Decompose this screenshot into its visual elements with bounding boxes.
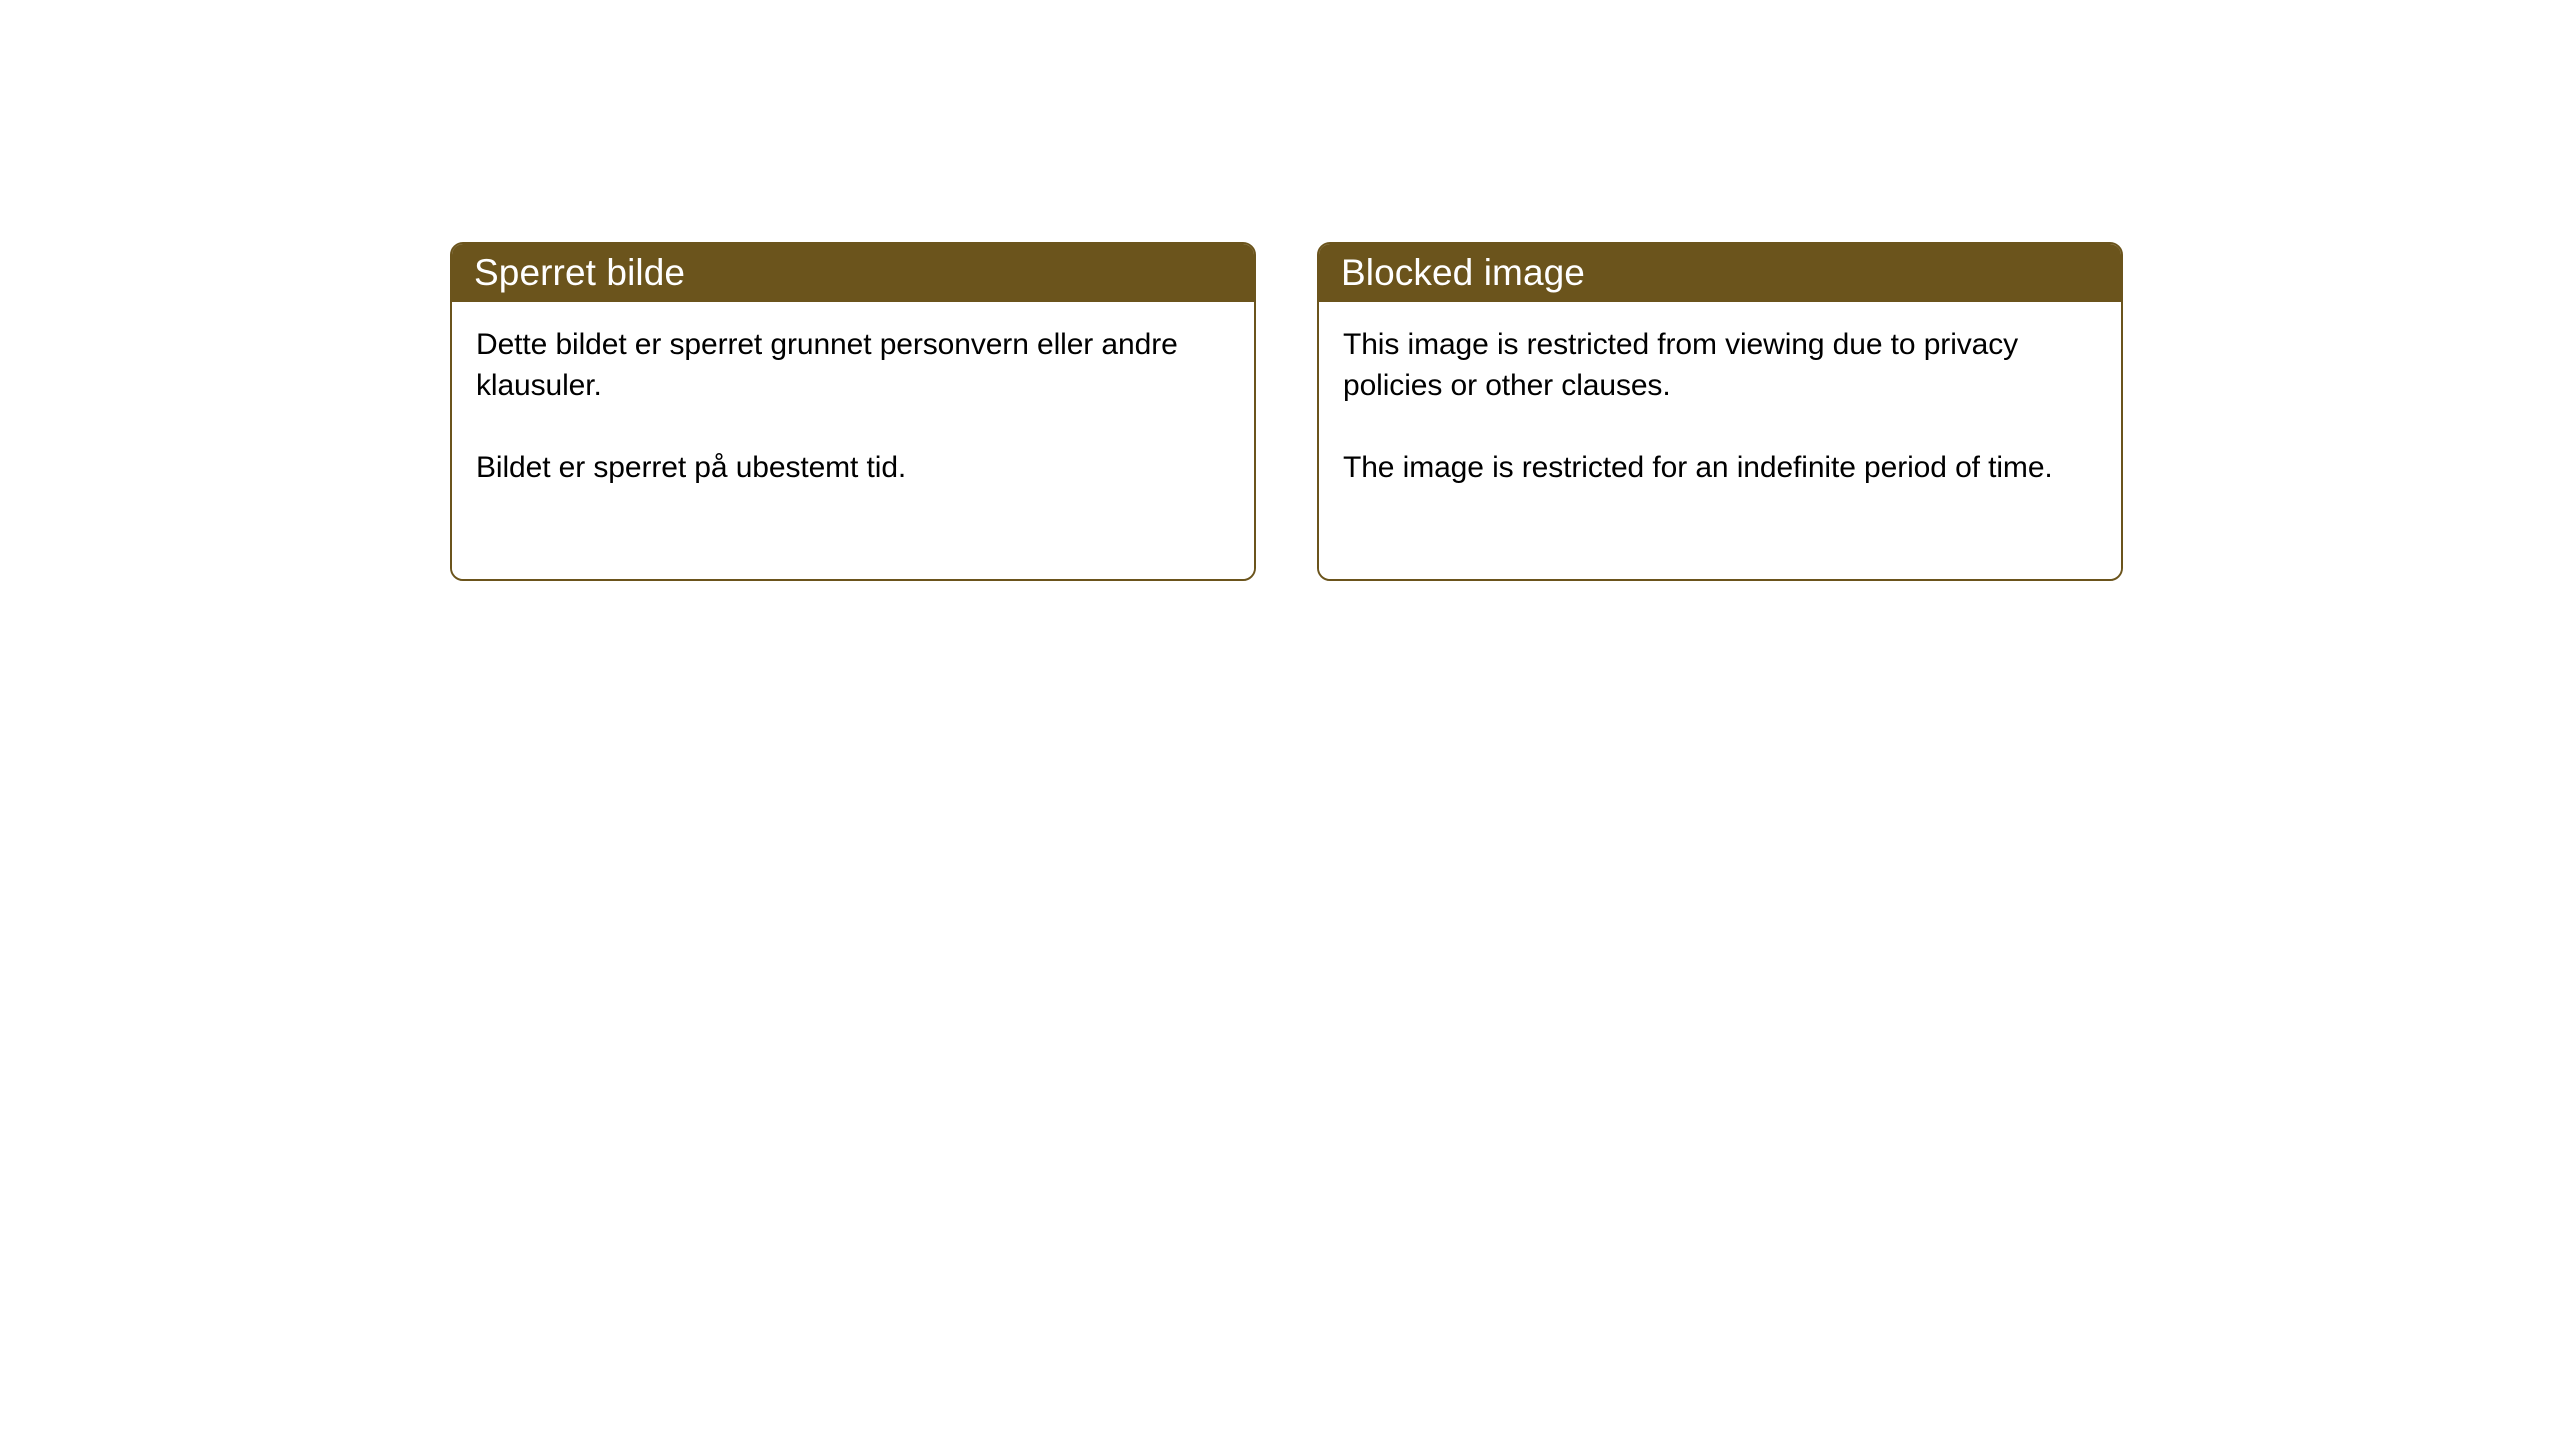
page-root: Sperret bilde Dette bildet er sperret gr… [0,0,2560,1440]
notice-card-body-en: This image is restricted from viewing du… [1319,302,2121,579]
notice-card-paragraph-primary-en: This image is restricted from viewing du… [1343,324,2095,406]
notice-card-body-no: Dette bildet er sperret grunnet personve… [452,302,1254,579]
blocked-image-notice-card-en: Blocked image This image is restricted f… [1317,242,2123,581]
blocked-image-notice-card-no: Sperret bilde Dette bildet er sperret gr… [450,242,1256,581]
notice-card-paragraph-secondary-en: The image is restricted for an indefinit… [1343,447,2095,488]
notice-card-title-en: Blocked image [1341,254,1585,291]
notice-card-header-en: Blocked image [1317,242,2123,302]
notice-card-paragraph-primary-no: Dette bildet er sperret grunnet personve… [476,324,1228,406]
notice-card-header-no: Sperret bilde [450,242,1256,302]
notice-card-title-no: Sperret bilde [474,254,685,291]
blocked-image-notice-group: Sperret bilde Dette bildet er sperret gr… [450,242,2123,581]
notice-card-paragraph-secondary-no: Bildet er sperret på ubestemt tid. [476,447,1228,488]
